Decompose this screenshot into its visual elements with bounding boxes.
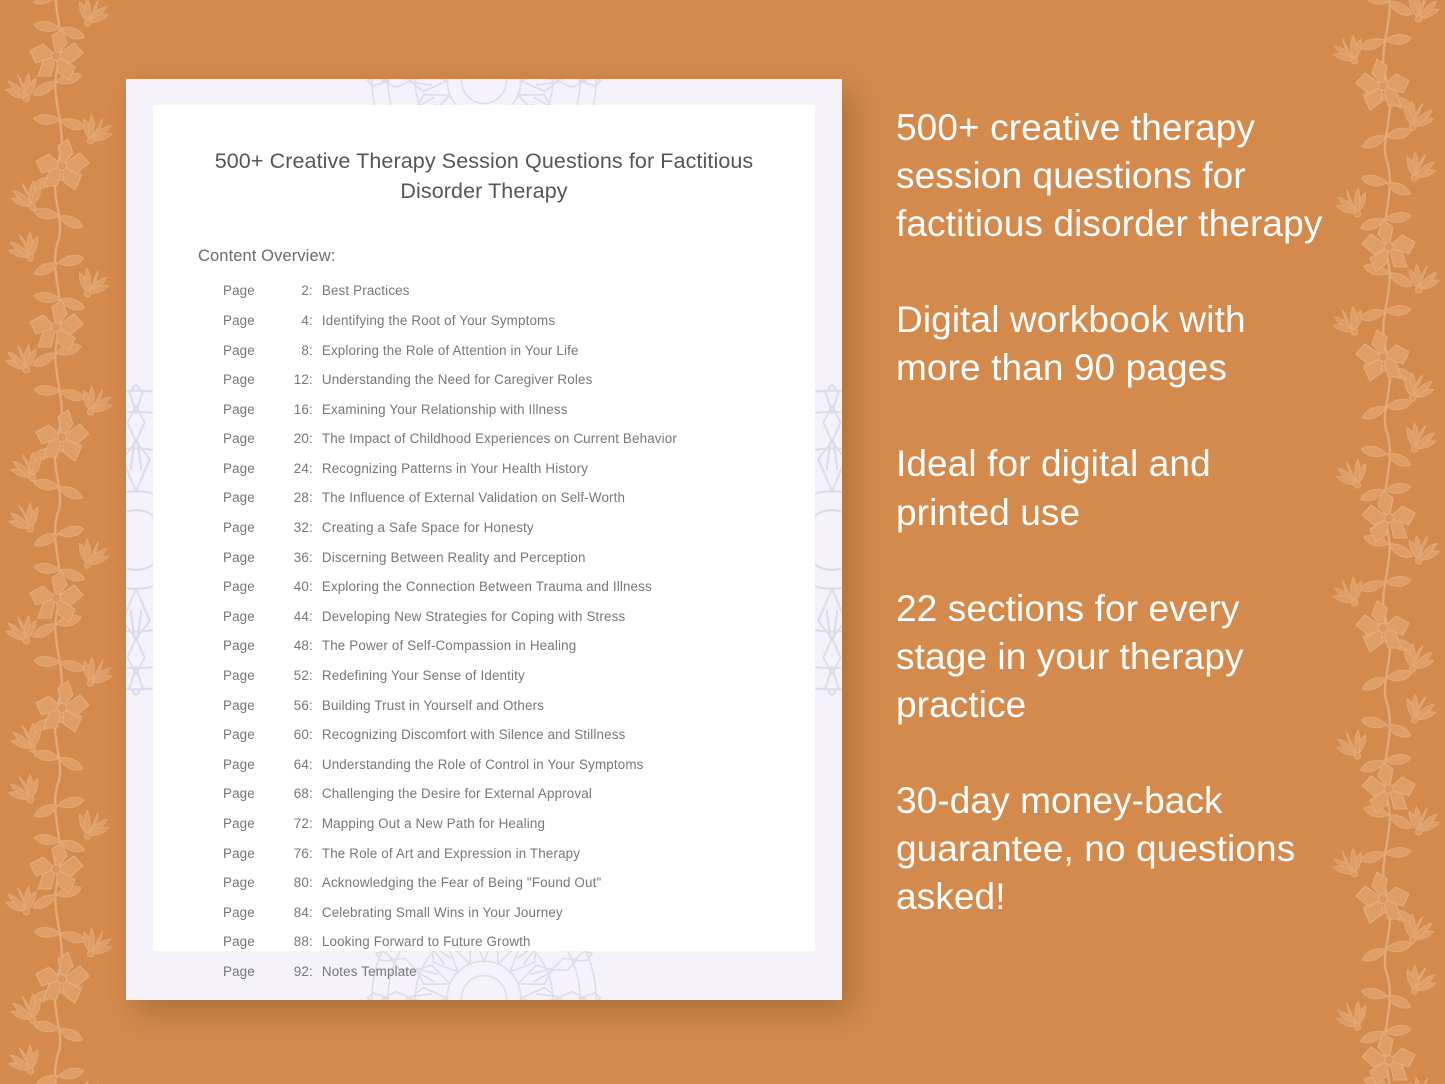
marketing-point: 500+ creative therapy session questions …	[896, 104, 1326, 248]
toc-entry: Page8:Exploring the Role of Attention in…	[223, 344, 815, 357]
toc-entry: Page88:Looking Forward to Future Growth	[223, 935, 815, 948]
marketing-point: Digital workbook with more than 90 pages	[896, 296, 1326, 392]
toc-entry-page-word: Page	[223, 491, 283, 504]
toc-entry-page-number: 16	[283, 403, 309, 416]
toc-entry-page-number: 44	[283, 610, 309, 623]
toc-entry-page-word: Page	[223, 403, 283, 416]
toc-entry: Page56:Building Trust in Yourself and Ot…	[223, 699, 815, 712]
toc-entry-separator: :	[309, 639, 322, 652]
toc-entry-page-number: 12	[283, 373, 309, 386]
toc-entry-separator: :	[309, 580, 322, 593]
toc-entry-page-word: Page	[223, 758, 283, 771]
toc-entry: Page60:Recognizing Discomfort with Silen…	[223, 728, 815, 741]
toc-entry-separator: :	[309, 373, 322, 386]
toc-entry-title: The Role of Art and Expression in Therap…	[322, 847, 580, 860]
toc-entry-title: Looking Forward to Future Growth	[322, 935, 531, 948]
toc-entry-page-number: 72	[283, 817, 309, 830]
toc-entry-separator: :	[309, 462, 322, 475]
toc-entry-title: Notes Template	[322, 965, 417, 978]
toc-entry-page-number: 76	[283, 847, 309, 860]
toc-entry-title: Exploring the Connection Between Trauma …	[322, 580, 652, 593]
toc-entry-title: Examining Your Relationship with Illness	[322, 403, 568, 416]
toc-entry-page-number: 80	[283, 876, 309, 889]
toc-entry: Page20:The Impact of Childhood Experienc…	[223, 432, 815, 445]
toc-entry-page-number: 56	[283, 699, 309, 712]
product-listing-image: 500+ Creative Therapy Session Questions …	[0, 0, 1445, 1084]
toc-entry: Page72:Mapping Out a New Path for Healin…	[223, 817, 815, 830]
toc-entry-page-word: Page	[223, 551, 283, 564]
toc-entry-page-word: Page	[223, 935, 283, 948]
toc-entry-page-number: 40	[283, 580, 309, 593]
toc-entry-page-number: 68	[283, 787, 309, 800]
toc-entry-title: Understanding the Need for Caregiver Rol…	[322, 373, 593, 386]
floral-vine-border-left	[0, 0, 126, 1084]
toc-entry-title: Building Trust in Yourself and Others	[322, 699, 544, 712]
toc-entry-title: Understanding the Role of Control in You…	[322, 758, 644, 771]
toc-entry-page-word: Page	[223, 284, 283, 297]
toc-entry-separator: :	[309, 610, 322, 623]
toc-entry: Page84:Celebrating Small Wins in Your Jo…	[223, 906, 815, 919]
toc-entry-separator: :	[309, 432, 322, 445]
toc-entry: Page4:Identifying the Root of Your Sympt…	[223, 314, 815, 327]
toc-entry: Page76:The Role of Art and Expression in…	[223, 847, 815, 860]
toc-entry-page-number: 92	[283, 965, 309, 978]
toc-entry-title: The Impact of Childhood Experiences on C…	[322, 432, 677, 445]
toc-entry-separator: :	[309, 787, 322, 800]
toc-entry: Page16:Examining Your Relationship with …	[223, 403, 815, 416]
toc-entry: Page12:Understanding the Need for Caregi…	[223, 373, 815, 386]
toc-entry-page-word: Page	[223, 580, 283, 593]
toc-entry-page-number: 4	[283, 314, 309, 327]
toc-entry-title: Mapping Out a New Path for Healing	[322, 817, 545, 830]
toc-entry-title: Best Practices	[322, 284, 410, 297]
toc-entry-separator: :	[309, 935, 322, 948]
toc-entry-title: Recognizing Patterns in Your Health Hist…	[322, 462, 588, 475]
toc-entry-page-number: 52	[283, 669, 309, 682]
toc-entry-separator: :	[309, 728, 322, 741]
toc-entry-page-number: 20	[283, 432, 309, 445]
marketing-copy-column: 500+ creative therapy session questions …	[896, 104, 1326, 921]
toc-entry-title: Recognizing Discomfort with Silence and …	[322, 728, 626, 741]
toc-entry-page-word: Page	[223, 728, 283, 741]
toc-entry-page-word: Page	[223, 847, 283, 860]
toc-entry-title: Redefining Your Sense of Identity	[322, 669, 525, 682]
workbook-page: 500+ Creative Therapy Session Questions …	[153, 105, 815, 951]
toc-entry-page-word: Page	[223, 699, 283, 712]
toc-entry-separator: :	[309, 284, 322, 297]
toc-entry: Page2:Best Practices	[223, 284, 815, 297]
toc-entry-page-word: Page	[223, 669, 283, 682]
toc-entry-page-word: Page	[223, 817, 283, 830]
toc-entry-title: Acknowledging the Fear of Being "Found O…	[322, 876, 601, 889]
toc-entry-separator: :	[309, 876, 322, 889]
toc-entry-separator: :	[309, 403, 322, 416]
toc-entry-page-number: 64	[283, 758, 309, 771]
toc-entry-title: Challenging the Desire for External Appr…	[322, 787, 592, 800]
toc-entry-separator: :	[309, 491, 322, 504]
workbook-preview-card: 500+ Creative Therapy Session Questions …	[126, 79, 842, 1000]
toc-entry: Page32:Creating a Safe Space for Honesty	[223, 521, 815, 534]
marketing-point: 30-day money-back guarantee, no question…	[896, 777, 1326, 921]
toc-entry-page-word: Page	[223, 965, 283, 978]
toc-entry-page-number: 48	[283, 639, 309, 652]
toc-entry-separator: :	[309, 344, 322, 357]
toc-entry: Page80:Acknowledging the Fear of Being "…	[223, 876, 815, 889]
toc-entry-separator: :	[309, 314, 322, 327]
toc-entry-page-number: 32	[283, 521, 309, 534]
toc-entry-page-number: 84	[283, 906, 309, 919]
toc-entry-page-word: Page	[223, 610, 283, 623]
toc-entry-page-word: Page	[223, 876, 283, 889]
toc-entry-page-number: 8	[283, 344, 309, 357]
toc-entry: Page92:Notes Template	[223, 965, 815, 978]
toc-entry-separator: :	[309, 847, 322, 860]
toc-entry: Page40:Exploring the Connection Between …	[223, 580, 815, 593]
toc-entry-separator: :	[309, 758, 322, 771]
toc-entry-page-number: 88	[283, 935, 309, 948]
toc-entry: Page68:Challenging the Desire for Extern…	[223, 787, 815, 800]
toc-entry-title: Celebrating Small Wins in Your Journey	[322, 906, 563, 919]
page-title: 500+ Creative Therapy Session Questions …	[153, 105, 815, 206]
toc-entry-page-word: Page	[223, 373, 283, 386]
toc-entry: Page48:The Power of Self-Compassion in H…	[223, 639, 815, 652]
table-of-contents: Page2:Best PracticesPage4:Identifying th…	[153, 266, 815, 978]
toc-entry-separator: :	[309, 669, 322, 682]
toc-entry: Page36:Discerning Between Reality and Pe…	[223, 551, 815, 564]
toc-entry-page-word: Page	[223, 787, 283, 800]
marketing-point: Ideal for digital and printed use	[896, 440, 1326, 536]
toc-entry: Page28:The Influence of External Validat…	[223, 491, 815, 504]
toc-entry: Page44:Developing New Strategies for Cop…	[223, 610, 815, 623]
toc-entry-page-word: Page	[223, 462, 283, 475]
toc-entry: Page64:Understanding the Role of Control…	[223, 758, 815, 771]
toc-entry-page-number: 36	[283, 551, 309, 564]
toc-entry-page-word: Page	[223, 521, 283, 534]
toc-entry-separator: :	[309, 699, 322, 712]
toc-entry-title: Developing New Strategies for Coping wit…	[322, 610, 625, 623]
toc-entry: Page52:Redefining Your Sense of Identity	[223, 669, 815, 682]
toc-entry: Page24:Recognizing Patterns in Your Heal…	[223, 462, 815, 475]
content-overview-label: Content Overview:	[153, 206, 815, 266]
toc-entry-page-number: 2	[283, 284, 309, 297]
toc-entry-separator: :	[309, 551, 322, 564]
toc-entry-title: Creating a Safe Space for Honesty	[322, 521, 534, 534]
toc-entry-title: Discerning Between Reality and Perceptio…	[322, 551, 586, 564]
toc-entry-page-number: 28	[283, 491, 309, 504]
floral-vine-border-right	[1319, 0, 1445, 1084]
toc-entry-separator: :	[309, 817, 322, 830]
toc-entry-page-word: Page	[223, 314, 283, 327]
toc-entry-page-number: 60	[283, 728, 309, 741]
toc-entry-separator: :	[309, 906, 322, 919]
marketing-point: 22 sections for every stage in your ther…	[896, 585, 1326, 729]
toc-entry-page-word: Page	[223, 344, 283, 357]
toc-entry-title: The Power of Self-Compassion in Healing	[322, 639, 576, 652]
toc-entry-page-number: 24	[283, 462, 309, 475]
toc-entry-separator: :	[309, 965, 322, 978]
toc-entry-page-word: Page	[223, 432, 283, 445]
toc-entry-title: Exploring the Role of Attention in Your …	[322, 344, 579, 357]
toc-entry-page-word: Page	[223, 639, 283, 652]
toc-entry-separator: :	[309, 521, 322, 534]
toc-entry-title: The Influence of External Validation on …	[322, 491, 625, 504]
toc-entry-title: Identifying the Root of Your Symptoms	[322, 314, 555, 327]
toc-entry-page-word: Page	[223, 906, 283, 919]
